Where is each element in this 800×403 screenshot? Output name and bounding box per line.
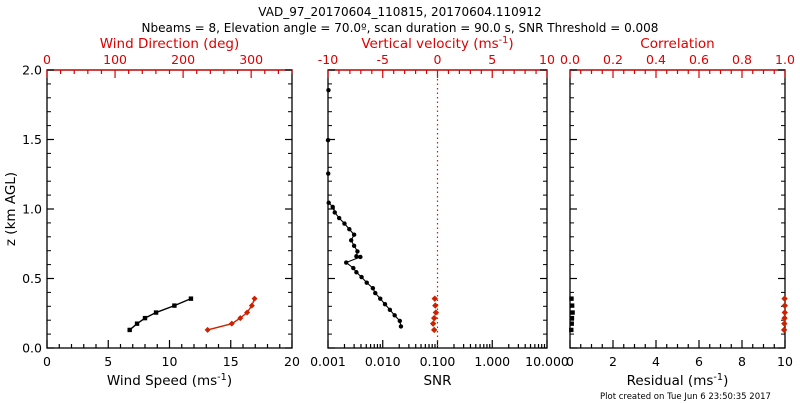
x2-tick-label: 10 <box>539 52 555 67</box>
snr-marker <box>388 308 392 312</box>
snr-marker <box>352 233 356 237</box>
x-tick-label: 0.100 <box>420 354 456 369</box>
x-tick-label: 10 <box>162 354 178 369</box>
snr-marker <box>326 171 330 175</box>
x2-tick-label: 0.6 <box>689 52 709 67</box>
wind-speed-marker <box>143 316 147 320</box>
plot-frame-black <box>47 70 292 348</box>
vertical-velocity-marker <box>430 320 436 326</box>
x2-axis-title: Correlation <box>640 36 714 52</box>
panel3-axes: 0246810Residual (ms-1)0.00.20.40.60.81.0… <box>560 36 795 389</box>
snr-marker <box>326 88 330 92</box>
x2-tick-label: 0.0 <box>560 52 580 67</box>
residual-marker <box>570 310 574 314</box>
snr-marker <box>351 266 355 270</box>
snr-marker <box>344 260 348 264</box>
correlation-marker <box>781 295 787 301</box>
snr-marker <box>383 302 387 306</box>
plot-created-note: Plot created on Tue Jun 6 23:50:35 2017 <box>600 384 771 403</box>
x-tick-label: 8 <box>738 354 746 369</box>
x-tick-label: 10.000 <box>525 354 569 369</box>
snr-marker <box>333 210 337 214</box>
x-tick-label: 15 <box>223 354 239 369</box>
plot-canvas: 0.00.51.01.52.0z (km AGL)05101520Wind Sp… <box>0 0 800 400</box>
x-tick-label: 6 <box>695 354 703 369</box>
vad-plot-figure: VAD_97_20170604_110815, 20170604.110912 … <box>0 0 800 400</box>
snr-marker <box>331 205 335 209</box>
y-tick-label: 1.5 <box>22 132 42 147</box>
residual-marker <box>570 303 574 307</box>
x2-tick-label: -5 <box>377 52 389 67</box>
y-axis-title: z (km AGL) <box>3 172 19 246</box>
snr-marker <box>354 270 358 274</box>
y-tick-label: 1.0 <box>22 202 42 217</box>
panel2-series <box>326 88 439 333</box>
vertical-velocity-marker <box>432 302 438 308</box>
plot-created-text: Plot created on Tue Jun 6 23:50:35 2017 <box>600 392 771 402</box>
wind-speed-marker <box>189 296 193 300</box>
y-tick-label: 0.5 <box>22 271 42 286</box>
wind-speed-marker <box>135 321 139 325</box>
snr-marker <box>373 291 377 295</box>
x2-axis-title: Vertical velocity (ms-1) <box>361 35 513 52</box>
correlation-marker <box>781 327 787 333</box>
panel-residual-frame <box>570 70 785 348</box>
vertical-velocity-marker <box>433 309 439 315</box>
snr-marker <box>327 201 331 205</box>
snr-marker <box>352 244 356 248</box>
snr-marker <box>355 249 359 253</box>
x2-tick-label: 1.0 <box>775 52 795 67</box>
vertical-velocity-marker <box>431 327 437 333</box>
vertical-velocity-marker <box>431 315 437 321</box>
x2-tick-label: 100 <box>103 52 127 67</box>
correlation-marker <box>782 302 788 308</box>
x-axis-title: SNR <box>423 373 451 389</box>
snr-marker <box>365 280 369 284</box>
x2-tick-label: -10 <box>318 52 338 67</box>
y-tick-label: 0.0 <box>22 341 42 356</box>
wind-direction-marker <box>205 327 211 333</box>
panel1-series <box>127 296 257 333</box>
x-tick-label: 4 <box>652 354 660 369</box>
panel2-axes: 0.0010.0100.1001.00010.000SNR-10-50510Ve… <box>310 35 569 389</box>
residual-marker <box>570 321 574 325</box>
x-tick-label: 5 <box>104 354 112 369</box>
snr-marker <box>358 255 362 259</box>
snr-marker <box>378 296 382 300</box>
wind-speed-marker <box>172 303 176 307</box>
x2-tick-label: 200 <box>171 52 195 67</box>
x-tick-label: 0 <box>43 354 51 369</box>
residual-marker <box>569 328 573 332</box>
x-tick-label: 1.000 <box>474 354 510 369</box>
residual-marker <box>570 316 574 320</box>
snr-marker <box>392 313 396 317</box>
x2-tick-label: 0.8 <box>732 52 752 67</box>
x-tick-label: 0 <box>566 354 574 369</box>
x2-tick-label: 0 <box>434 52 442 67</box>
x-tick-label: 0.010 <box>365 354 401 369</box>
x2-tick-label: 5 <box>488 52 496 67</box>
snr-marker <box>399 324 403 328</box>
wind-direction-marker <box>252 296 258 302</box>
y-ticks-panel3 <box>570 70 785 348</box>
x2-axis-title: Wind Direction (deg) <box>100 36 239 52</box>
wind-speed-marker <box>127 328 131 332</box>
x-tick-label: 10 <box>777 354 793 369</box>
snr-marker <box>354 254 358 258</box>
x-tick-label: 20 <box>284 354 300 369</box>
x2-tick-label: 300 <box>239 52 263 67</box>
x2-tick-label: 0 <box>43 52 51 67</box>
x-tick-label: 2 <box>609 354 617 369</box>
x2-tick-label: 0.4 <box>646 52 666 67</box>
snr-marker <box>347 227 351 231</box>
snr-marker <box>398 319 402 323</box>
snr-marker <box>337 216 341 220</box>
correlation-marker <box>781 320 787 326</box>
panel3-series <box>569 295 788 333</box>
x-tick-label: 0.001 <box>310 354 346 369</box>
snr-marker <box>371 286 375 290</box>
snr-marker <box>349 238 353 242</box>
panel1-axes: 05101520Wind Speed (ms-1)0100200300Wind … <box>43 36 300 389</box>
x-axis-title: Wind Speed (ms-1) <box>107 372 232 389</box>
wind-speed-marker <box>154 310 158 314</box>
snr-marker <box>342 221 346 225</box>
snr-marker <box>326 138 330 142</box>
residual-marker <box>569 296 573 300</box>
snr-marker <box>359 275 363 279</box>
panel-wind-frame <box>47 70 292 348</box>
y-tick-label: 2.0 <box>22 63 42 78</box>
correlation-marker <box>782 309 788 315</box>
x2-tick-label: 0.2 <box>603 52 623 67</box>
plot-frame-black <box>570 70 785 348</box>
